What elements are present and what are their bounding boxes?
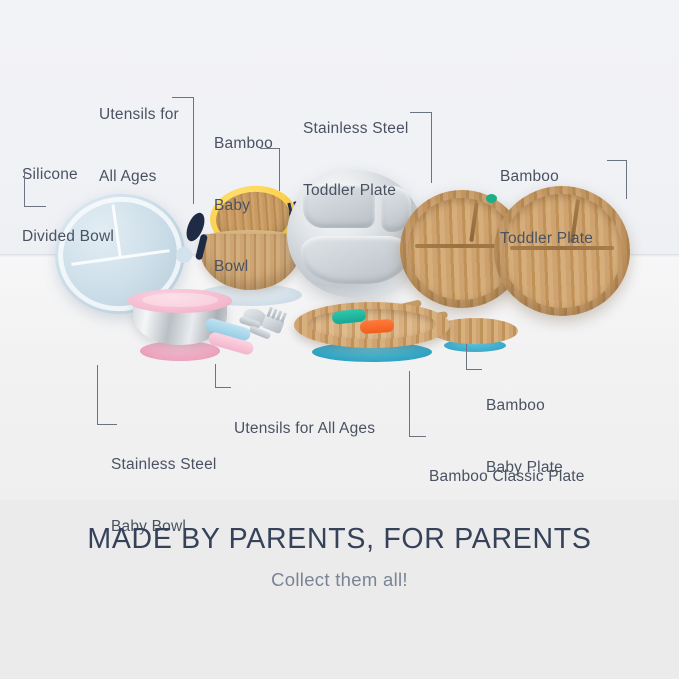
page-subline: Collect them all! (0, 569, 679, 591)
callout-line-2: Baby (214, 196, 273, 217)
callout-line-2: Divided Bowl (22, 227, 114, 248)
callout-line-3: Bowl (214, 257, 273, 278)
plate-section-3 (301, 236, 409, 284)
bowl-suction-tab (176, 247, 192, 263)
green-suction-tab (486, 194, 497, 203)
product-bamboo-classic-plate (294, 302, 450, 362)
callout-utensils-bottom: Utensils for All Ages (234, 378, 375, 481)
callout-line-2: Toddler Plate (500, 229, 593, 250)
callout-line-1: Bamboo (486, 396, 563, 417)
infographic-canvas: Silicone Divided Bowl Utensils for All A… (0, 0, 679, 679)
callout-line-1: Utensils for (99, 105, 179, 126)
callout-utensils-top: Utensils for All Ages (99, 64, 179, 228)
orange-spoon-icon (360, 319, 395, 334)
callout-line-1: Bamboo (214, 134, 273, 155)
callout-line-1: Stainless Steel (303, 119, 409, 140)
callout-line-1: Bamboo Classic Plate (429, 467, 585, 488)
callout-line-1: Utensils for All Ages (234, 419, 375, 440)
callout-line-1: Stainless Steel (111, 455, 217, 476)
callout-line-1: Bamboo (500, 167, 593, 188)
callout-stainless-steel-toddler-plate: Stainless Steel Toddler Plate (303, 78, 409, 242)
callout-line-2: All Ages (99, 167, 179, 188)
callout-bamboo-classic-plate: Bamboo Classic Plate (429, 426, 585, 529)
callout-line-2: Toddler Plate (303, 181, 409, 202)
callout-bamboo-toddler-plate: Bamboo Toddler Plate (500, 126, 593, 290)
page-headline: MADE BY PARENTS, FOR PARENTS (0, 523, 679, 556)
callout-bamboo-baby-bowl: Bamboo Baby Bowl (214, 93, 273, 319)
